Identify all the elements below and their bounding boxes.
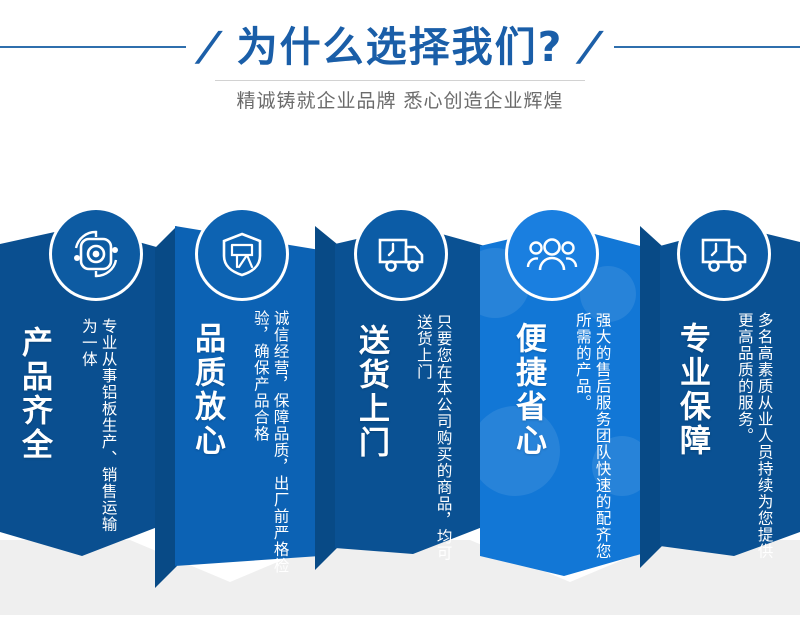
panel-icon-recycle-camera <box>52 210 140 298</box>
page-title: 为什么选择我们? <box>223 27 578 68</box>
page-header: / 为什么选择我们? / 精诚铸就企业品牌 悉心创造企业辉煌 <box>0 0 800 130</box>
panel-icon-delivery-truck-1 <box>357 210 445 298</box>
panel-fold <box>315 226 337 574</box>
subtitle-divider <box>215 80 585 81</box>
panel-icon-delivery-truck-2 <box>680 210 768 298</box>
panel-desc: 诚信经营，保障品质，出厂前严格检验，确保产品合格 <box>250 310 290 590</box>
recycle-camera-icon <box>70 228 122 280</box>
team-people-icon <box>526 232 578 276</box>
panel-desc: 强大的售后服务团队快速的配齐您所需的产品。 <box>572 312 612 568</box>
shield-quality-icon <box>217 229 267 279</box>
delivery-truck-icon <box>698 232 750 276</box>
panel-icon-shield-quality <box>198 210 286 298</box>
delivery-truck-icon <box>375 232 427 276</box>
panel-desc: 只要您在本公司购买的商品，均可送货上门 <box>413 314 453 566</box>
title-rule-left <box>0 46 186 48</box>
panel-icon-team-people <box>508 210 596 298</box>
panel-fold <box>640 226 662 571</box>
panel-desc: 专业从事铝板生产、销售运输为一体 <box>78 318 118 536</box>
feature-panels: 产品齐全 专业从事铝板生产、销售运输为一体 品质放心 诚信经营，保障品质，出厂前… <box>0 170 800 640</box>
panel-title: 专业保障 <box>670 322 715 458</box>
title-rule-right <box>614 46 800 48</box>
panel-desc: 多名高素质从业人员持续为您提供更高品质的服务。 <box>734 312 774 564</box>
panel-fold <box>155 226 177 591</box>
slash-right: / <box>573 27 608 67</box>
panel-title: 产品齐全 <box>12 326 57 462</box>
panel-title: 便捷省心 <box>506 322 551 458</box>
title-row: / 为什么选择我们? / <box>0 18 800 76</box>
slash-left: / <box>192 27 227 67</box>
panel-title: 送货上门 <box>349 324 394 460</box>
panel-title: 品质放心 <box>185 322 230 458</box>
page-subtitle: 精诚铸就企业品牌 悉心创造企业辉煌 <box>0 86 800 113</box>
